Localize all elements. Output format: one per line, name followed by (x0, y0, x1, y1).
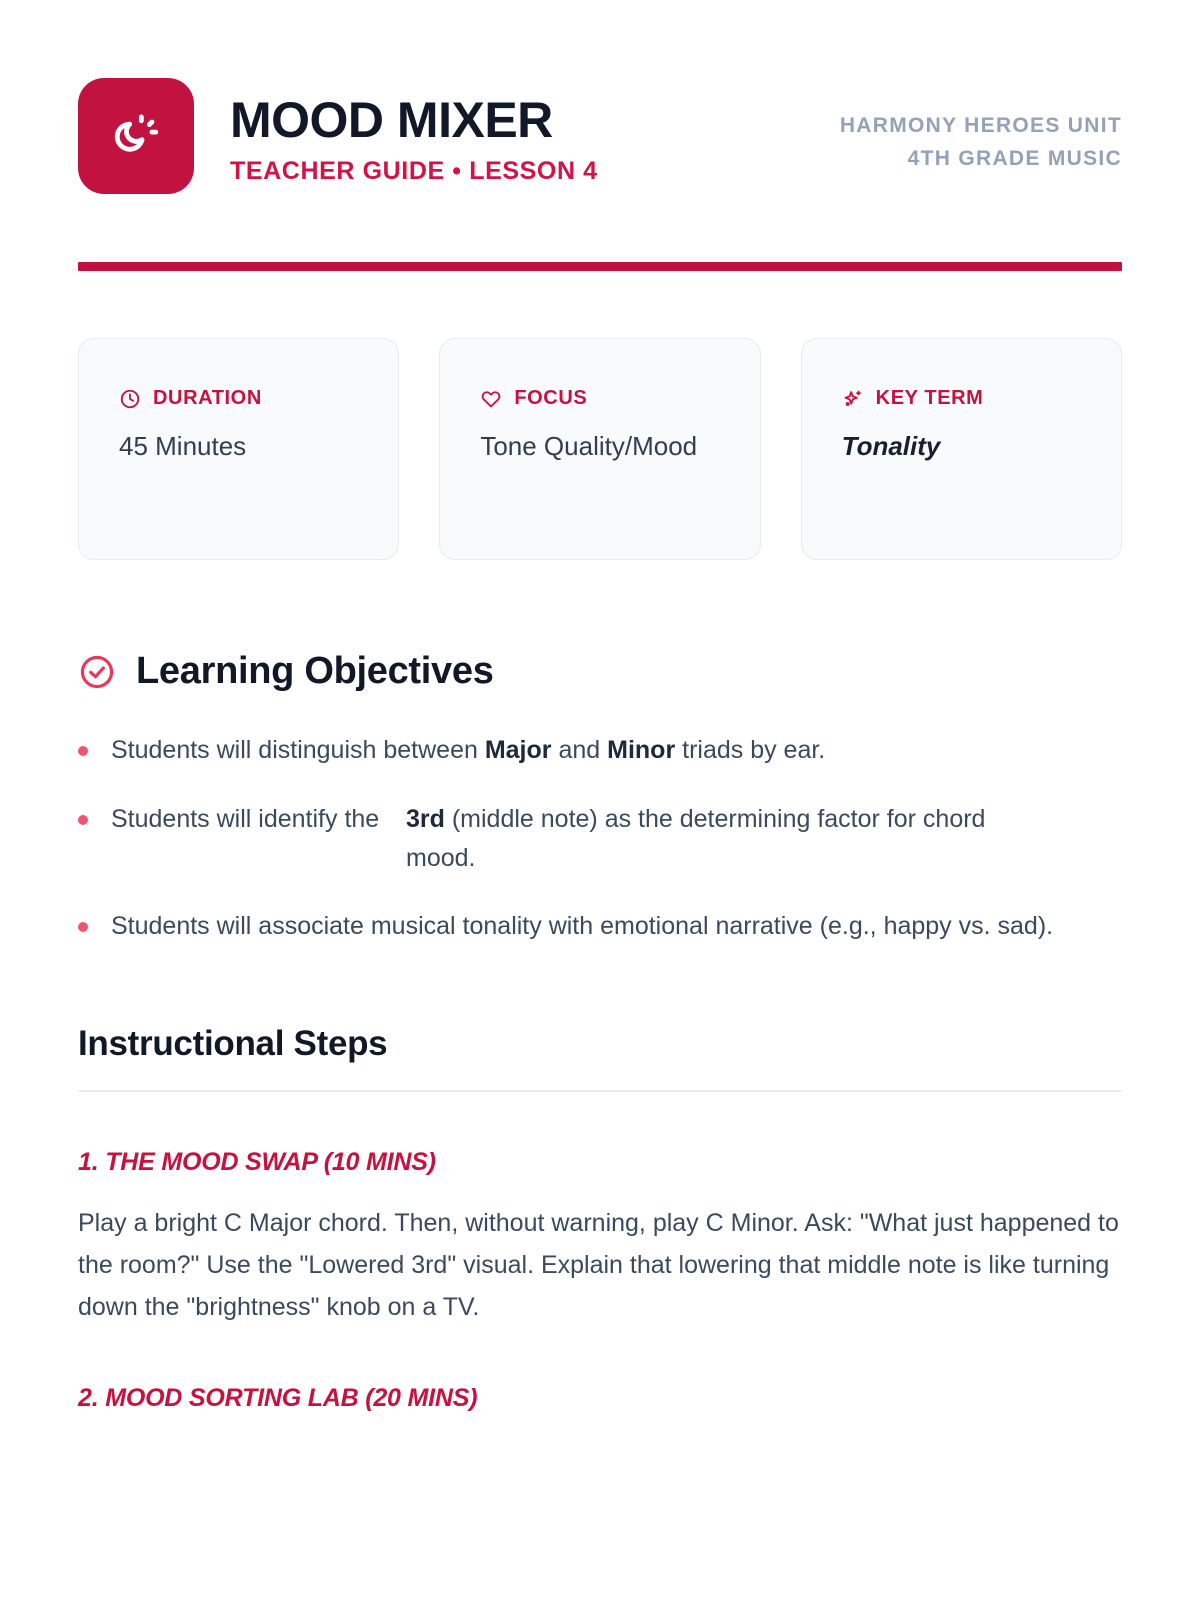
step-body: Play a bright C Major chord. Then, witho… (78, 1203, 1122, 1328)
objective-text: Students will associate musical tonality… (111, 907, 1122, 946)
objective-text: Students will identify the3rd (middle no… (111, 800, 1122, 878)
info-card-header: DURATION (119, 387, 358, 410)
instructional-step-1: 1. THE MOOD SWAP (10 MINS) Play a bright… (78, 1148, 1122, 1328)
objective-text-part: triads by ear. (675, 736, 825, 764)
app-logo-badge (78, 78, 194, 194)
info-card-header: KEY TERM (842, 387, 1081, 410)
info-card-focus: FOCUS Tone Quality/Mood (439, 338, 760, 560)
bullet-dot (78, 746, 88, 756)
objective-text-part: Students will distinguish between (111, 736, 485, 764)
info-card-value: Tone Quality/Mood (480, 428, 719, 466)
info-card-duration: DURATION 45 Minutes (78, 338, 399, 560)
objective-item: Students will associate musical tonality… (78, 907, 1122, 946)
objective-item: Students will distinguish between Major … (78, 731, 1122, 770)
sparkles-icon (842, 388, 864, 410)
step-title: 1. THE MOOD SWAP (10 MINS) (78, 1148, 1122, 1177)
info-card-header: FOCUS (480, 387, 719, 410)
learning-objectives-header: Learning Objectives (78, 650, 1122, 693)
header-meta: HARMONY HEROES UNIT 4TH GRADE MUSIC (840, 78, 1122, 175)
info-card-row: DURATION 45 Minutes FOCUS Tone Quality/M… (78, 338, 1122, 560)
step-title: 2. MOOD SORTING LAB (20 MINS) (78, 1384, 1122, 1413)
bullet-dot (78, 922, 88, 932)
instructional-step-2: 2. MOOD SORTING LAB (20 MINS) (78, 1384, 1122, 1413)
objective-text-part: and (552, 736, 608, 764)
objective-text-left: Students will identify the (111, 800, 406, 839)
page-header: MOOD MIXER TEACHER GUIDE • LESSON 4 HARM… (78, 0, 1122, 194)
instructional-steps-title: Instructional Steps (78, 1024, 1122, 1064)
clock-icon (119, 388, 141, 410)
objectives-list: Students will distinguish between Major … (78, 731, 1122, 946)
circle-check-icon (78, 653, 116, 691)
bullet-dot (78, 815, 88, 825)
objective-emphasis: Minor (607, 736, 675, 764)
section-title: Learning Objectives (136, 650, 494, 693)
objective-text-part: (middle note) as the determining factor … (406, 805, 985, 872)
objective-emphasis: 3rd (406, 805, 445, 833)
info-card-label: KEY TERM (876, 387, 984, 410)
heart-icon (480, 388, 502, 410)
objective-text-right: 3rd (middle note) as the determining fac… (406, 800, 1036, 878)
info-card-label: DURATION (153, 387, 262, 410)
header-accent-rule (78, 262, 1122, 271)
info-card-value: 45 Minutes (119, 428, 358, 466)
unit-name: HARMONY HEROES UNIT (840, 110, 1122, 143)
teacher-guide-page: MOOD MIXER TEACHER GUIDE • LESSON 4 HARM… (0, 0, 1200, 1600)
page-subtitle: TEACHER GUIDE • LESSON 4 (230, 157, 840, 186)
objective-item: Students will identify the3rd (middle no… (78, 800, 1122, 878)
info-card-value: Tonality (842, 428, 1081, 466)
section-divider (78, 1090, 1122, 1092)
info-card-key-term: KEY TERM Tonality (801, 338, 1122, 560)
title-block: MOOD MIXER TEACHER GUIDE • LESSON 4 (230, 78, 840, 186)
objective-text: Students will distinguish between Major … (111, 731, 1122, 770)
info-card-label: FOCUS (514, 387, 587, 410)
grade-subject: 4TH GRADE MUSIC (840, 143, 1122, 176)
objective-emphasis: Major (485, 736, 552, 764)
page-title: MOOD MIXER (230, 94, 840, 147)
moon-sparkle-icon (107, 107, 165, 165)
